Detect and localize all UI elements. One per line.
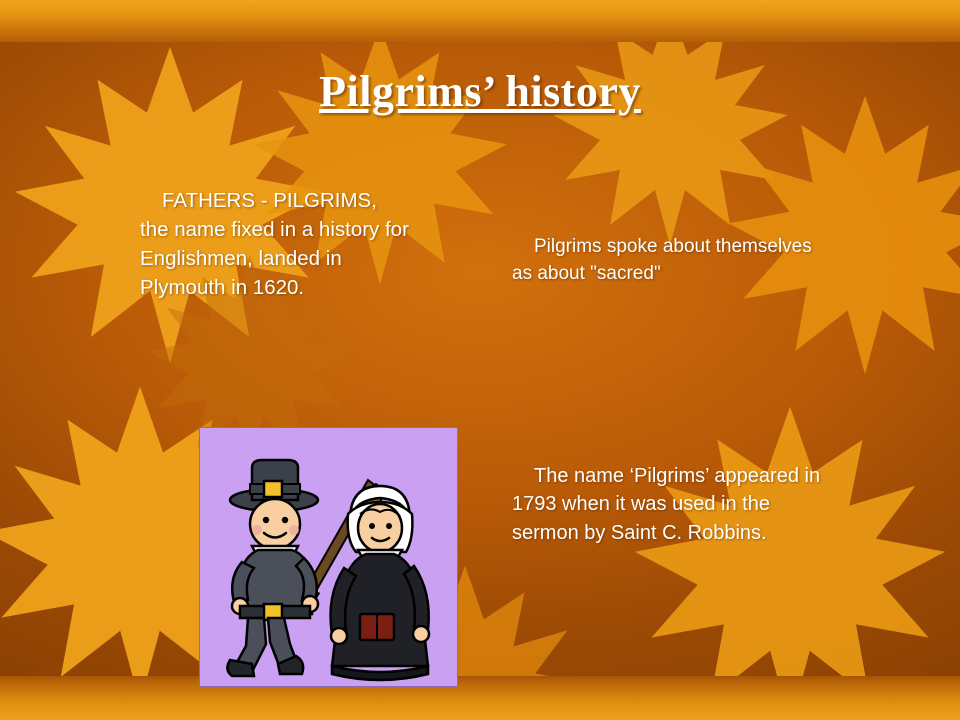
sacred-paragraph: Pilgrims spoke about themselves as about… [512,234,812,288]
fathers-pilgrims-text: FATHERS - PILGRIMS, the name fixed in a … [140,189,409,299]
name-origin-paragraph: The name ‘Pilgrims’ appeared in 1793 whe… [512,462,832,547]
bottom-gradient-band [0,676,960,720]
pilgrim-woman-head [358,504,402,552]
slide: Pilgrims’ history FATHERS - PILGRIMS, th… [0,0,960,720]
name-origin-text: The name ‘Pilgrims’ appeared in 1793 whe… [512,465,820,544]
pilgrim-man-body [232,550,318,620]
pilgrim-man-head [250,499,300,549]
pilgrim-couple-clipart [199,427,458,687]
sacred-text: Pilgrims spoke about themselves as about… [512,236,812,284]
fathers-pilgrims-paragraph: FATHERS - PILGRIMS, the name fixed in a … [140,186,410,302]
page-title: Pilgrims’ history [0,66,960,117]
top-gradient-band [0,0,960,42]
pilgrim-woman-dress [331,554,430,680]
